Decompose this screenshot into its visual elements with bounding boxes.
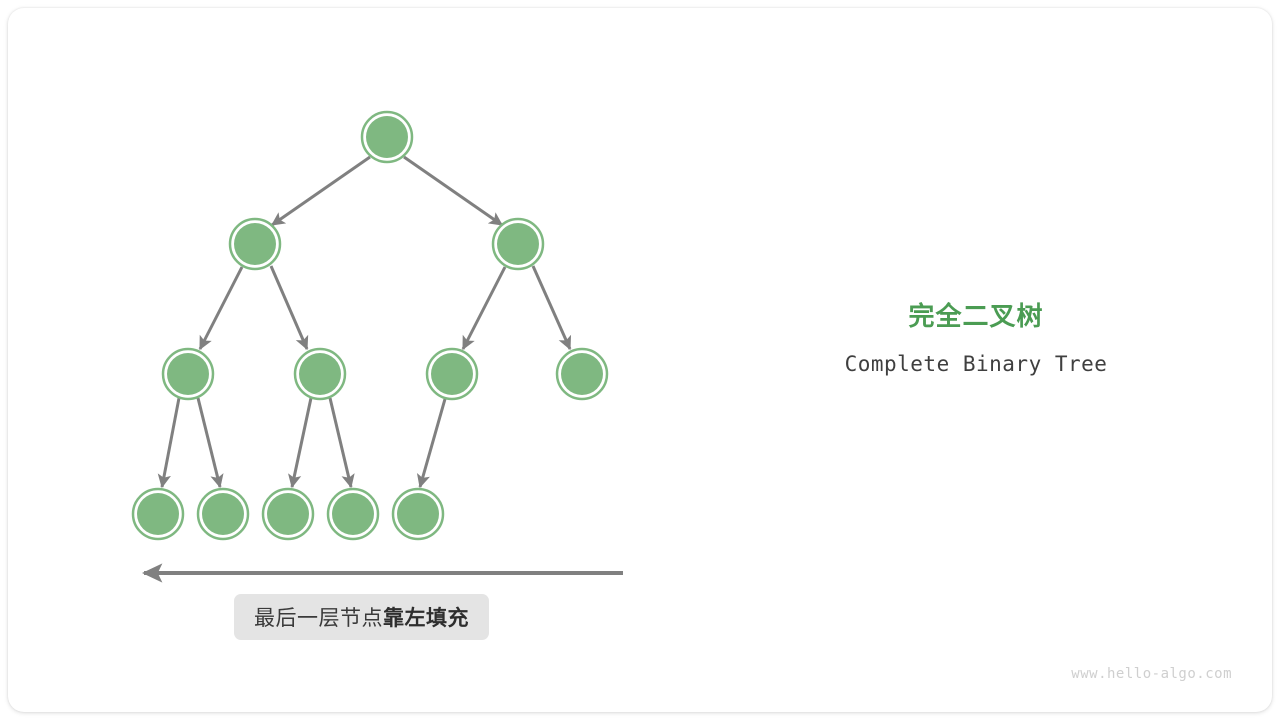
edge-n6-n12 — [420, 399, 445, 487]
edge-n2-n5 — [271, 266, 307, 349]
edge-n3-n7 — [533, 266, 570, 349]
edge-n3-n6 — [463, 267, 505, 349]
tree-node-level2-left[interactable] — [230, 219, 280, 269]
tree-node-level3-1[interactable] — [163, 349, 213, 399]
diagram-card: 完全二叉树 Complete Binary Tree 最后一层节点靠左填充 ww… — [8, 8, 1272, 712]
tree-node-level4-4[interactable] — [328, 489, 378, 539]
tree-node-level4-1[interactable] — [133, 489, 183, 539]
tree-node-root[interactable] — [362, 112, 412, 162]
diagram-page: 完全二叉树 Complete Binary Tree 最后一层节点靠左填充 ww… — [0, 0, 1280, 720]
page-subtitle: Complete Binary Tree — [788, 350, 1164, 378]
tree-nodes — [133, 112, 607, 539]
tree-node-level3-2[interactable] — [295, 349, 345, 399]
tree-node-level2-right[interactable] — [493, 219, 543, 269]
caption-text: 最后一层节点靠左填充 — [254, 602, 469, 632]
caption-prefix: 最后一层节点 — [254, 606, 383, 630]
edge-n2-n4 — [200, 267, 242, 349]
caption-badge: 最后一层节点靠左填充 — [234, 594, 489, 640]
tree-node-level4-5[interactable] — [393, 489, 443, 539]
tree-edges — [162, 157, 570, 487]
watermark: www.hello-algo.com — [1071, 666, 1232, 682]
page-title: 完全二叉树 — [788, 300, 1164, 334]
edge-n4-n9 — [198, 398, 220, 487]
edge-n1-n2 — [272, 157, 370, 225]
tree-node-level3-4[interactable] — [557, 349, 607, 399]
edge-n5-n11 — [330, 398, 351, 487]
title-block: 完全二叉树 Complete Binary Tree — [788, 300, 1164, 378]
tree-node-level3-3[interactable] — [427, 349, 477, 399]
caption-emphasis: 靠左填充 — [383, 606, 469, 630]
edge-n5-n10 — [292, 398, 311, 487]
edge-n4-n8 — [162, 398, 179, 487]
edge-n1-n3 — [404, 157, 502, 225]
tree-node-level4-3[interactable] — [263, 489, 313, 539]
tree-node-level4-2[interactable] — [198, 489, 248, 539]
